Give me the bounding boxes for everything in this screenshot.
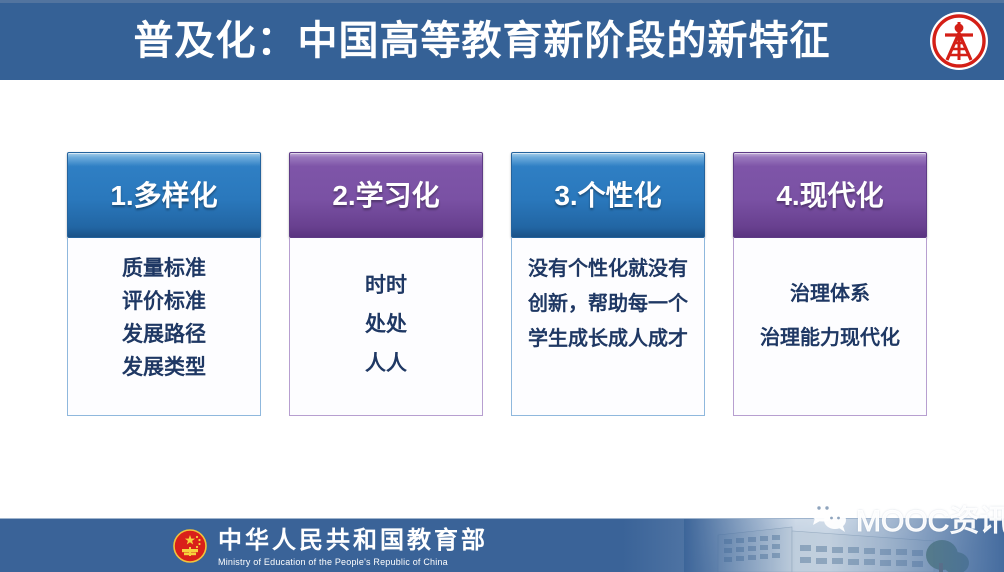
channel-watermark: MOOC资讯 [806,497,1004,539]
card-4-line-1: 治理体系 [742,272,918,316]
card-1-line-2: 评价标准 [76,285,252,318]
page-title: 普及化：中国高等教育新阶段的新特征 [0,3,1004,80]
slide-header: 普及化：中国高等教育新阶段的新特征 [0,0,1004,80]
feature-card-1[interactable]: 1.多样化 质量标准 评价标准 发展路径 发展类型 [67,152,261,416]
ministry-name-cn: 中华人民共和国教育部 [218,527,488,553]
card-2-line-2: 处处 [298,305,474,344]
card-2-body: 时时 处处 人人 [289,238,483,416]
card-3-title: 3.个性化 [511,152,705,238]
card-1-line-4: 发展类型 [76,351,252,384]
ministry-identity: 中华人民共和国教育部 Ministry of Education of the … [218,527,488,569]
ministry-name-en: Ministry of Education of the People's Re… [218,555,488,569]
card-1-title: 1.多样化 [67,152,261,238]
card-3-line-2: 创新，帮助每一个 [520,287,696,322]
card-2-line-3: 人人 [298,344,474,383]
national-emblem-icon [172,528,208,564]
institution-emblem-icon [928,10,990,72]
card-2-line-1: 时时 [298,266,474,305]
feature-card-2[interactable]: 2.学习化 时时 处处 人人 [289,152,483,416]
feature-card-3[interactable]: 3.个性化 没有个性化就没有 创新，帮助每一个 学生成长成人成才 [511,152,705,416]
card-3-line-3: 学生成长成人成才 [520,322,696,357]
wechat-icon [806,498,852,539]
slide: 普及化：中国高等教育新阶段的新特征 1.多样化 质量标准 评价标准 发展路径 发… [0,0,1004,571]
feature-card-4[interactable]: 4.现代化 治理体系 治理能力现代化 [733,152,927,416]
card-1-line-1: 质量标准 [76,252,252,285]
card-1-line-3: 发展路径 [76,318,252,351]
card-4-title: 4.现代化 [733,152,927,238]
watermark-label: MOOC资讯 [856,496,1004,540]
card-2-title: 2.学习化 [289,152,483,238]
card-4-body: 治理体系 治理能力现代化 [733,238,927,416]
card-3-line-1: 没有个性化就没有 [520,252,696,287]
card-3-body: 没有个性化就没有 创新，帮助每一个 学生成长成人成才 [511,238,705,416]
card-1-body: 质量标准 评价标准 发展路径 发展类型 [67,238,261,416]
feature-card-row: 1.多样化 质量标准 评价标准 发展路径 发展类型 2.学习化 时时 处处 人人… [0,152,1004,422]
card-4-line-2: 治理能力现代化 [742,316,918,360]
